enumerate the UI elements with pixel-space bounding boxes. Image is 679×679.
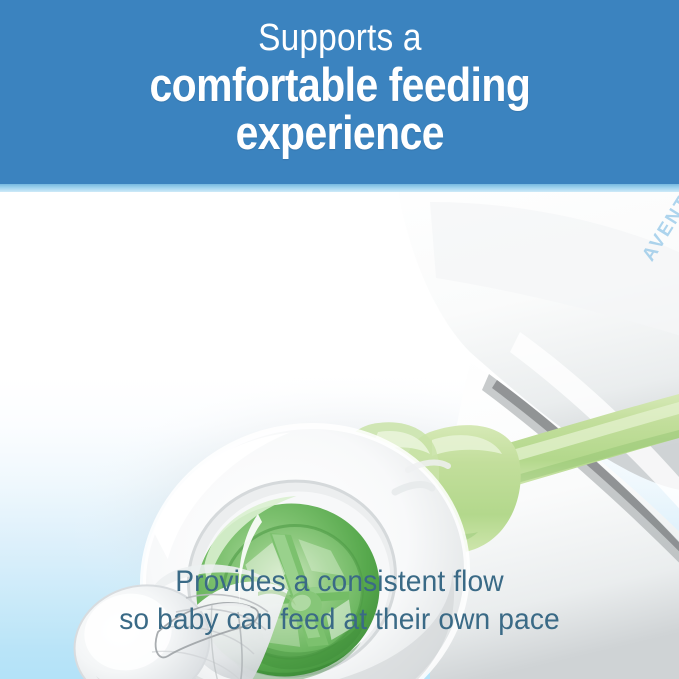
caption-line-1: Provides a consistent flow	[20, 563, 658, 600]
headline-line-3: experience	[235, 108, 443, 158]
header-divider-band	[0, 184, 679, 192]
header-banner: Supports a comfortable feeding experienc…	[0, 0, 679, 184]
headline-line-2: comfortable feeding	[149, 60, 530, 110]
headline-line-1: Supports a	[258, 16, 422, 60]
caption-line-2: so baby can feed at their own pace	[20, 601, 658, 638]
product-feature-banner: Supports a comfortable feeding experienc…	[0, 0, 679, 679]
